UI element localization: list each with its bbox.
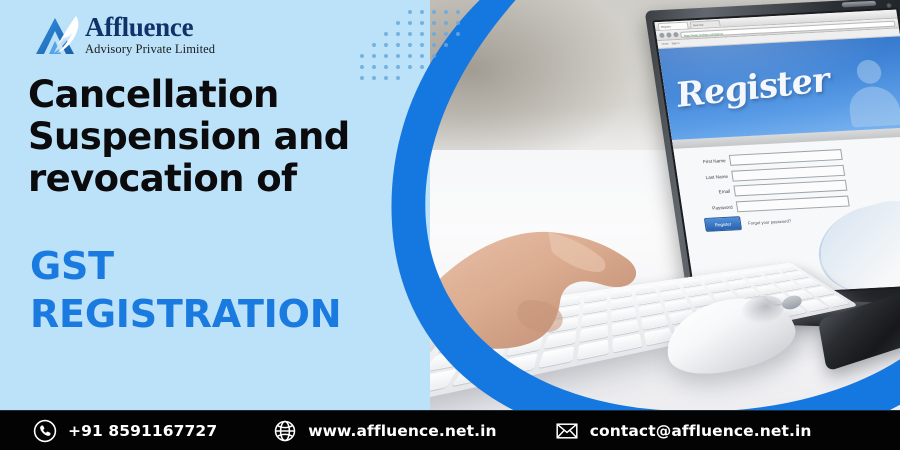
phone-number: +91 8591167727: [68, 422, 217, 440]
phone-icon: [33, 419, 57, 443]
page-title: Cancellation Suspension and revocation o…: [28, 74, 428, 201]
dot-grid-pattern: [352, 6, 472, 82]
headline-line-3: revocation of: [28, 158, 428, 200]
triangle-swoosh-logo-icon: [36, 14, 80, 56]
brand-logo[interactable]: Affluence Advisory Private Limited: [36, 14, 215, 56]
subheadline-line-2: REGISTRATION: [30, 291, 430, 339]
footer-website[interactable]: www.affluence.net.in: [273, 419, 496, 443]
website-url: www.affluence.net.in: [308, 422, 496, 440]
footer-email[interactable]: contact@affluence.net.in: [555, 419, 812, 443]
subheadline-line-1: GST: [30, 243, 430, 291]
headline-line-2: Suspension and: [28, 116, 428, 158]
contact-footer: +91 8591167727 www.affluence.net.in: [0, 410, 900, 450]
footer-phone[interactable]: +91 8591167727: [33, 419, 217, 443]
page-subtitle: GST REGISTRATION: [30, 243, 430, 338]
email-address: contact@affluence.net.in: [590, 422, 812, 440]
brand-tagline: Advisory Private Limited: [85, 43, 215, 56]
brand-logo-text: Affluence Advisory Private Limited: [85, 14, 215, 56]
brand-name: Affluence: [85, 14, 215, 41]
globe-icon: [273, 419, 297, 443]
envelope-icon: [555, 419, 579, 443]
headline-line-1: Cancellation: [28, 74, 428, 116]
gst-registration-banner: Register New Tab https://www.register.co…: [0, 0, 900, 450]
hero-photo: Register New Tab https://www.register.co…: [430, 0, 900, 420]
